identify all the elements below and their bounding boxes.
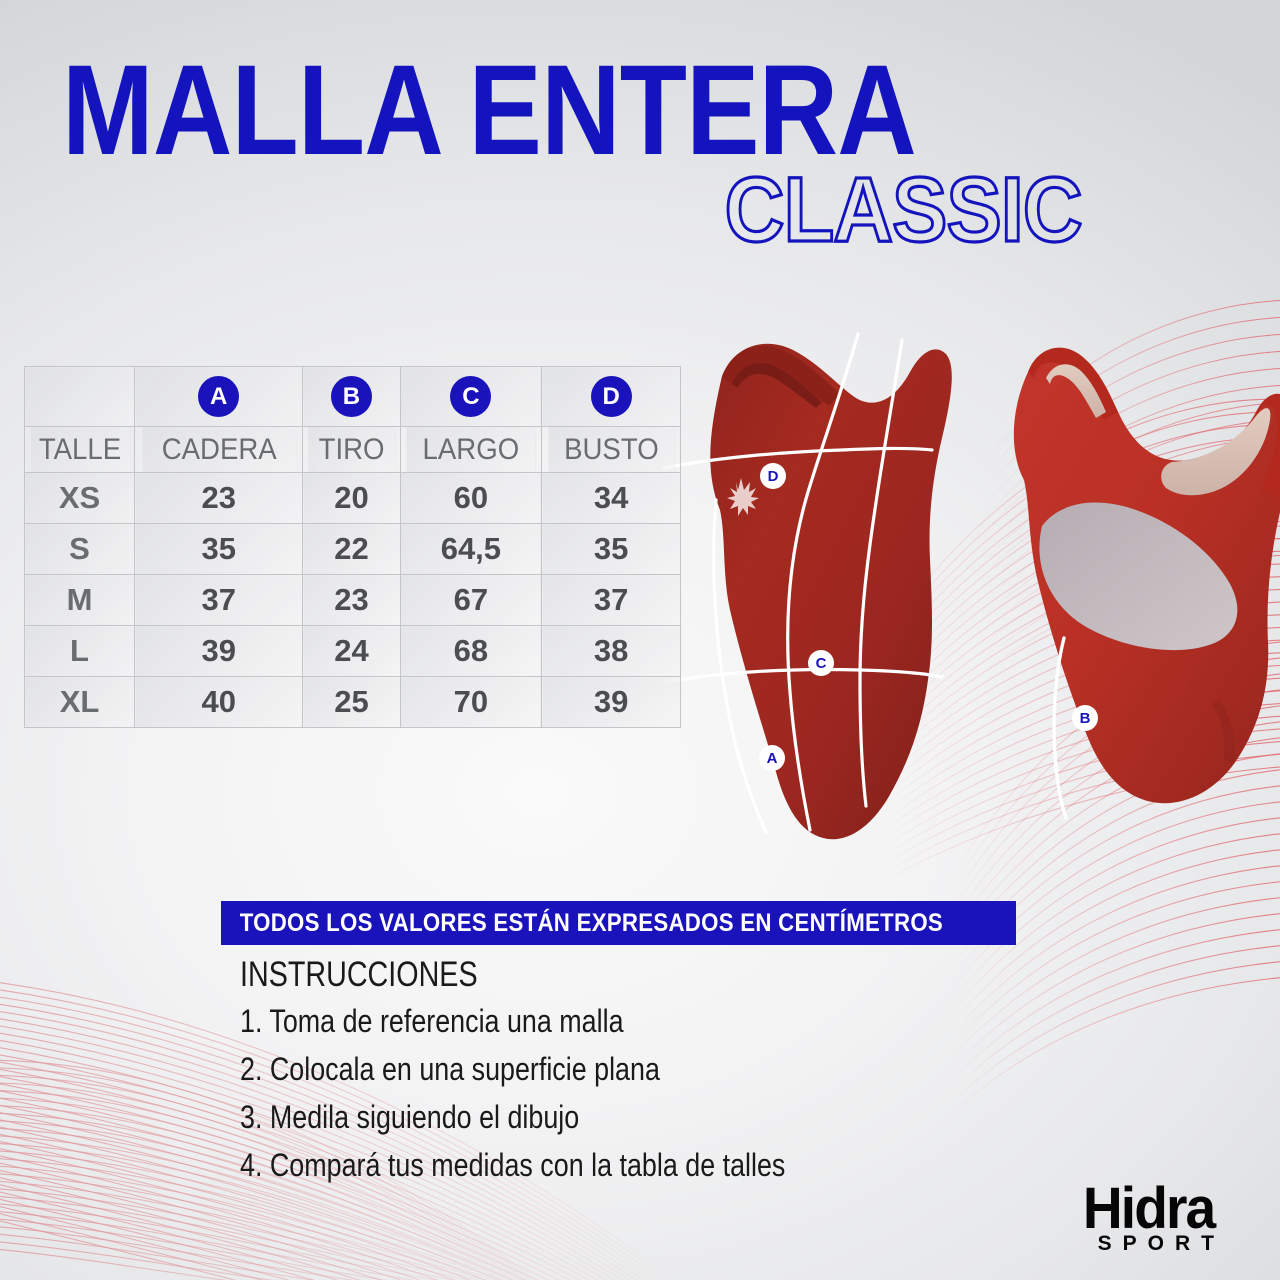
badge-cell-b: B xyxy=(303,367,400,427)
instructions-block: INSTRUCCIONES 1. Toma de referencia una … xyxy=(240,955,889,1195)
centimeters-banner-text: TODOS LOS VALORES ESTÁN EXPRESADOS EN CE… xyxy=(221,909,943,938)
header-largo: LARGO xyxy=(406,427,536,473)
cell-busto: 37 xyxy=(542,575,681,626)
brand-logo: Hidra SPORT xyxy=(1076,1181,1214,1256)
badge-c: C xyxy=(450,376,491,417)
cell-largo: 67 xyxy=(400,575,542,626)
badge-cell-c: C xyxy=(400,367,542,427)
table-row: L 39 24 68 38 xyxy=(25,626,681,677)
table-row: XL 40 25 70 39 xyxy=(25,677,681,728)
cell-busto: 35 xyxy=(542,524,681,575)
cell-busto: 38 xyxy=(542,626,681,677)
badge-d: D xyxy=(591,376,632,417)
instructions-heading: INSTRUCCIONES xyxy=(240,955,772,995)
cell-cadera: 39 xyxy=(135,626,303,677)
instruction-item-1: 1. Toma de referencia una malla xyxy=(240,1003,785,1040)
cell-cadera: 37 xyxy=(135,575,303,626)
table-header-row: TALLE CADERA TIRO LARGO BUSTO xyxy=(25,427,681,473)
marker-c: C xyxy=(808,650,834,676)
page-title: MALLA ENTERA CLASSIC xyxy=(62,52,1082,256)
badge-cell-a: A xyxy=(135,367,303,427)
badge-cell-d: D xyxy=(542,367,681,427)
table-row: M 37 23 67 37 xyxy=(25,575,681,626)
cell-busto: 34 xyxy=(542,473,681,524)
cell-cadera: 23 xyxy=(135,473,303,524)
marker-a: A xyxy=(759,745,785,771)
header-tiro: TIRO xyxy=(307,427,396,473)
garment-illustrations: D C A B xyxy=(660,320,1280,890)
table-row: XS 23 20 60 34 xyxy=(25,473,681,524)
badge-a: A xyxy=(198,376,239,417)
table-row: S 35 22 64,5 35 xyxy=(25,524,681,575)
badge-b: B xyxy=(331,376,372,417)
logo-name: Hidra xyxy=(1083,1181,1214,1236)
title-main: MALLA ENTERA xyxy=(62,52,939,170)
centimeters-banner: TODOS LOS VALORES ESTÁN EXPRESADOS EN CE… xyxy=(221,901,1016,945)
cell-tiro: 22 xyxy=(303,524,400,575)
header-cadera: CADERA xyxy=(141,427,296,473)
swimsuit-back-view xyxy=(1014,348,1280,818)
header-talle: TALLE xyxy=(29,427,130,473)
marker-d: D xyxy=(760,463,786,489)
cell-talle: XS xyxy=(25,473,135,524)
cell-largo: 70 xyxy=(400,677,542,728)
cell-cadera: 40 xyxy=(135,677,303,728)
cell-largo: 64,5 xyxy=(400,524,542,575)
swimsuit-front-view xyxy=(664,334,952,839)
cell-tiro: 25 xyxy=(303,677,400,728)
cell-talle: M xyxy=(25,575,135,626)
cell-talle: L xyxy=(25,626,135,677)
instruction-item-3: 3. Medila siguiendo el dibujo xyxy=(240,1099,785,1136)
cell-busto: 39 xyxy=(542,677,681,728)
header-busto: BUSTO xyxy=(547,427,675,473)
cell-largo: 68 xyxy=(400,626,542,677)
title-sub: CLASSIC xyxy=(725,164,1082,256)
swimsuit-svg xyxy=(660,320,1280,890)
instruction-item-2: 2. Colocala en una superficie plana xyxy=(240,1051,785,1088)
table-badge-row: A B C D xyxy=(25,367,681,427)
cell-tiro: 20 xyxy=(303,473,400,524)
cell-largo: 60 xyxy=(400,473,542,524)
cell-tiro: 23 xyxy=(303,575,400,626)
size-chart-table: A B C D TALLE CADERA TIRO LARGO BUSTO XS… xyxy=(24,366,681,728)
cell-talle: XL xyxy=(25,677,135,728)
cell-tiro: 24 xyxy=(303,626,400,677)
cell-talle: S xyxy=(25,524,135,575)
marker-b: B xyxy=(1072,705,1098,731)
instruction-item-4: 4. Compará tus medidas con la tabla de t… xyxy=(240,1147,785,1184)
badge-cell-empty xyxy=(25,367,135,427)
cell-cadera: 35 xyxy=(135,524,303,575)
